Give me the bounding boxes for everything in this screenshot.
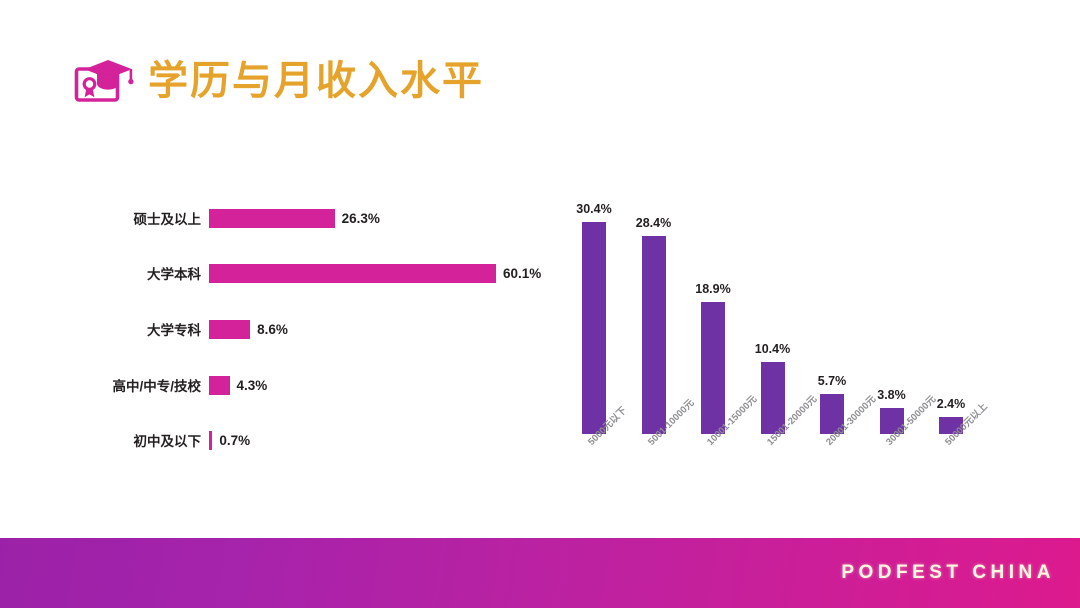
bar-row: 大学专科8.6% (0, 314, 560, 344)
page-title: 学历与月收入水平 (148, 54, 484, 108)
bar-column: 30.4% (582, 222, 606, 434)
bar (209, 431, 212, 450)
bar-value-label: 2.4% (937, 397, 966, 411)
bar-row: 高中/中专/技校4.3% (0, 370, 560, 400)
bar-value-label: 10.4% (755, 342, 790, 356)
bar (642, 236, 666, 434)
bar (209, 376, 230, 395)
bar-and-value: 8.6% (209, 314, 288, 344)
bar-category-label: 高中/中专/技校 (0, 370, 201, 400)
bar-value-label: 30.4% (576, 202, 611, 216)
bar-row: 硕士及以上26.3% (0, 203, 560, 233)
bar-value-label: 0.7% (219, 433, 250, 448)
bar-row: 初中及以下0.7% (0, 425, 560, 455)
slide-footer: PODFEST CHINA (0, 538, 1080, 608)
bar-value-label: 60.1% (503, 266, 541, 281)
diploma-graduation-cap-icon (74, 58, 134, 106)
education-level-chart: 硕士及以上26.3%大学本科60.1%大学专科8.6%高中/中专/技校4.3%初… (0, 190, 560, 460)
bar-column: 28.4% (642, 236, 666, 434)
bar-and-value: 0.7% (209, 425, 250, 455)
bar-value-label: 8.6% (257, 322, 288, 337)
monthly-income-chart: 30.4%5000元以下28.4%5001-10000元18.9%10001-1… (556, 180, 1026, 500)
bar-value-label: 18.9% (695, 282, 730, 296)
bar-and-value: 4.3% (209, 370, 267, 400)
bar-value-label: 4.3% (237, 378, 268, 393)
bar-and-value: 60.1% (209, 258, 541, 288)
slide-header: 学历与月收入水平 (0, 0, 1080, 140)
bar-category-label: 硕士及以上 (0, 203, 201, 233)
bar-column: 18.9% (701, 302, 725, 434)
brand-logo-text: PODFEST CHINA (841, 562, 1055, 584)
bar-value-label: 5.7% (818, 374, 847, 388)
bar (209, 264, 496, 283)
bar (701, 302, 725, 434)
bar-row: 大学本科60.1% (0, 258, 560, 288)
bar (209, 320, 250, 339)
bar-value-label: 28.4% (636, 216, 671, 230)
bar (582, 222, 606, 434)
bar (209, 209, 335, 228)
bar-value-label: 26.3% (342, 211, 380, 226)
bar-category-label: 初中及以下 (0, 425, 201, 455)
bar-and-value: 26.3% (209, 203, 380, 233)
bar-category-label: 大学专科 (0, 314, 201, 344)
slide-canvas: 学历与月收入水平 硕士及以上26.3%大学本科60.1%大学专科8.6%高中/中… (0, 0, 1080, 608)
bar-value-label: 3.8% (877, 388, 906, 402)
bar-category-label: 大学本科 (0, 258, 201, 288)
